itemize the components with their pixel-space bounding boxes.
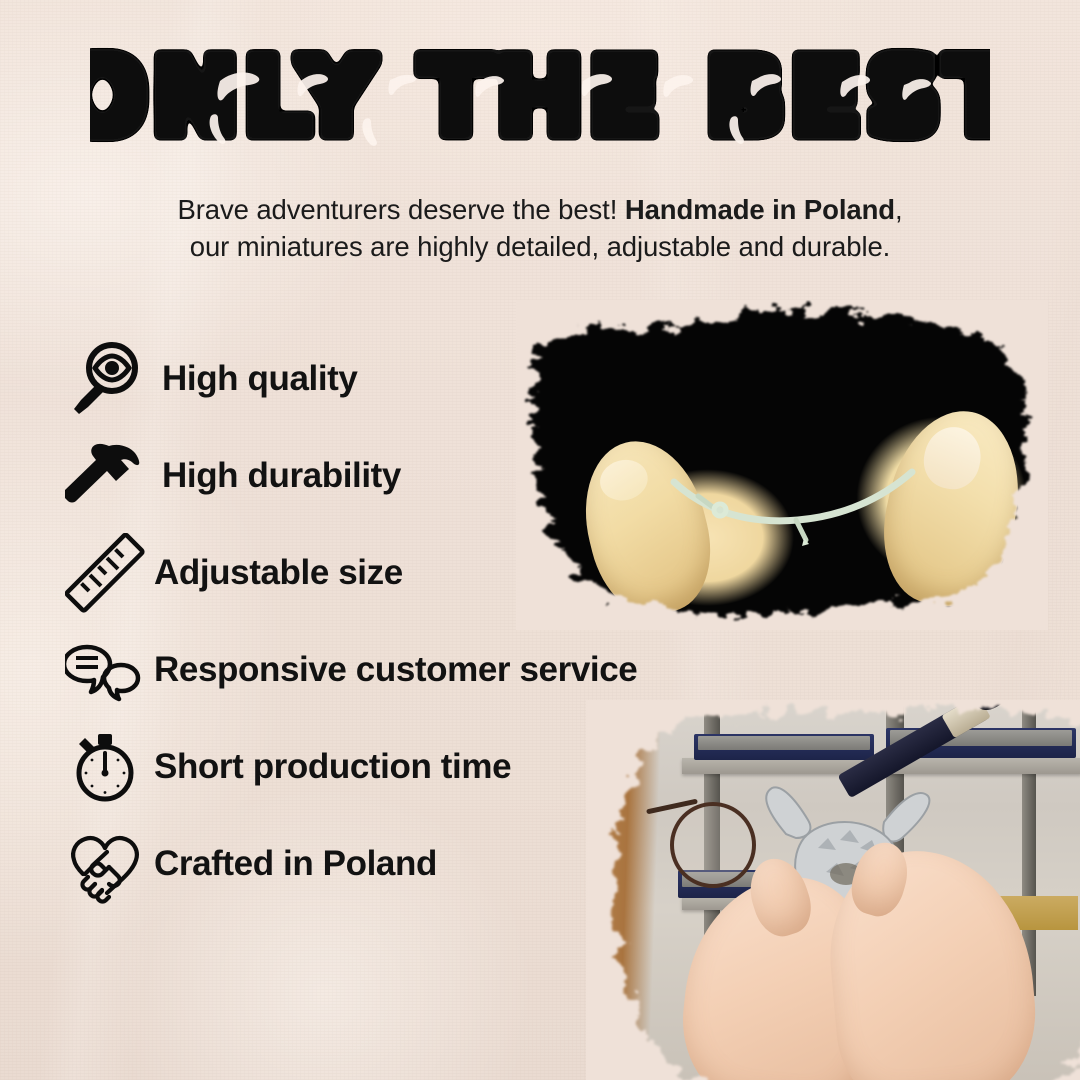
subtitle-line2: our miniatures are highly detailed, adju… bbox=[190, 231, 890, 262]
photo-miniature-closeup bbox=[516, 300, 1048, 630]
speech-bubbles-icon bbox=[62, 627, 148, 713]
magnifier-eye-icon bbox=[62, 336, 148, 422]
photo-workshop-painting-image bbox=[586, 700, 1080, 1080]
feature-label: Responsive customer service bbox=[154, 650, 637, 690]
subtitle: Brave adventurers deserve the best! Hand… bbox=[60, 192, 1020, 265]
subtitle-comma: , bbox=[895, 194, 903, 225]
subtitle-lead: Brave adventurers deserve the best! bbox=[177, 194, 624, 225]
feature-label: Crafted in Poland bbox=[154, 844, 437, 884]
handshake-heart-icon bbox=[62, 821, 148, 907]
hammer-icon bbox=[62, 433, 148, 519]
stopwatch-icon bbox=[62, 724, 148, 810]
headline-gloss bbox=[210, 72, 931, 145]
subtitle-bold: Handmade in Poland bbox=[625, 194, 895, 225]
photo-miniature-closeup-image bbox=[516, 300, 1048, 630]
ruler-icon bbox=[62, 530, 148, 616]
miniature-chain-part bbox=[668, 468, 918, 546]
tray-top-left bbox=[694, 734, 874, 760]
feature-label: Short production time bbox=[154, 747, 511, 787]
feature-label: High quality bbox=[162, 359, 357, 399]
feature-label: Adjustable size bbox=[154, 553, 403, 593]
headline-text: ONLY THE BEST bbox=[90, 36, 990, 158]
photo-workshop-painting bbox=[586, 700, 1080, 1080]
headline: ONLY THE BEST bbox=[0, 34, 1080, 164]
feature-label: High durability bbox=[162, 456, 401, 496]
poster-root: ONLY THE BEST Brave adventurers deserve … bbox=[0, 0, 1080, 1080]
